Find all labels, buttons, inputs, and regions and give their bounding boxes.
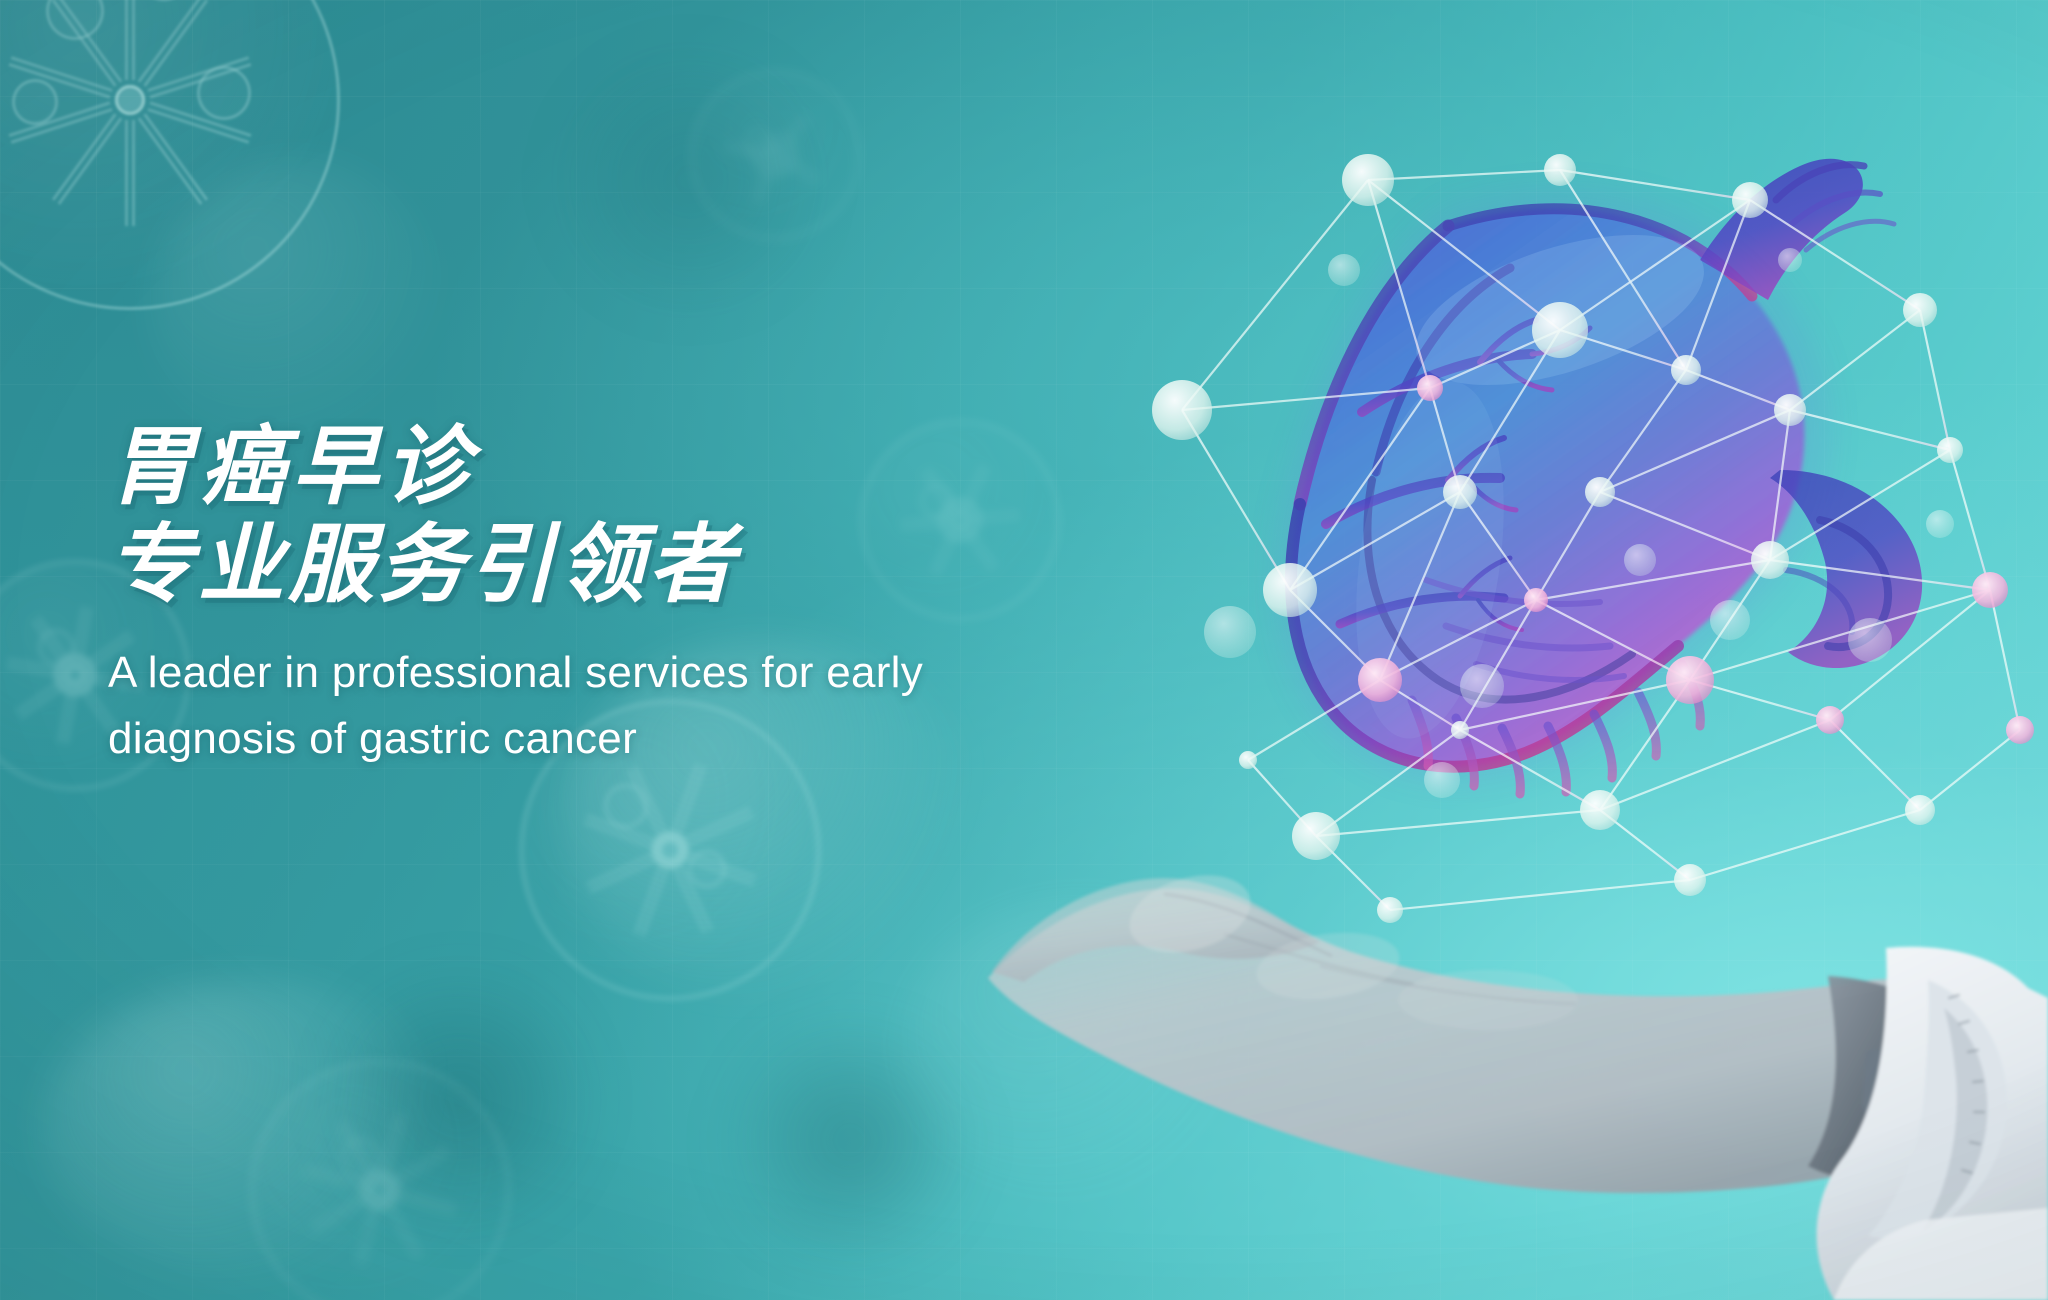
hand-illustration — [928, 680, 2048, 1300]
virus-icon — [0, 0, 340, 310]
node-network-overlay — [1130, 120, 2048, 980]
subtitle-line-2: diagnosis of gastric cancer — [108, 706, 1008, 772]
background-blob — [900, 900, 1280, 1200]
subtitle-line-1: A leader in professional services for ea… — [108, 640, 1008, 706]
background-blob — [300, 970, 620, 1230]
stomach-illustration — [1180, 140, 2048, 980]
background-blob — [150, 160, 450, 460]
headline-line-2: 专业服务引领者 — [108, 516, 1008, 614]
virus-icon — [690, 70, 860, 240]
background-blob — [520, 40, 860, 320]
background-blob — [700, 1020, 1000, 1260]
background-blob — [40, 980, 460, 1280]
hero-banner: 胃癌早诊 专业服务引领者 A leader in professional se… — [0, 0, 2048, 1300]
subtitle-block: A leader in professional services for ea… — [108, 640, 1008, 772]
headline-line-1: 胃癌早诊 — [108, 418, 1008, 516]
virus-icon — [250, 1060, 510, 1300]
headline-block: 胃癌早诊 专业服务引领者 A leader in professional se… — [108, 418, 1008, 772]
